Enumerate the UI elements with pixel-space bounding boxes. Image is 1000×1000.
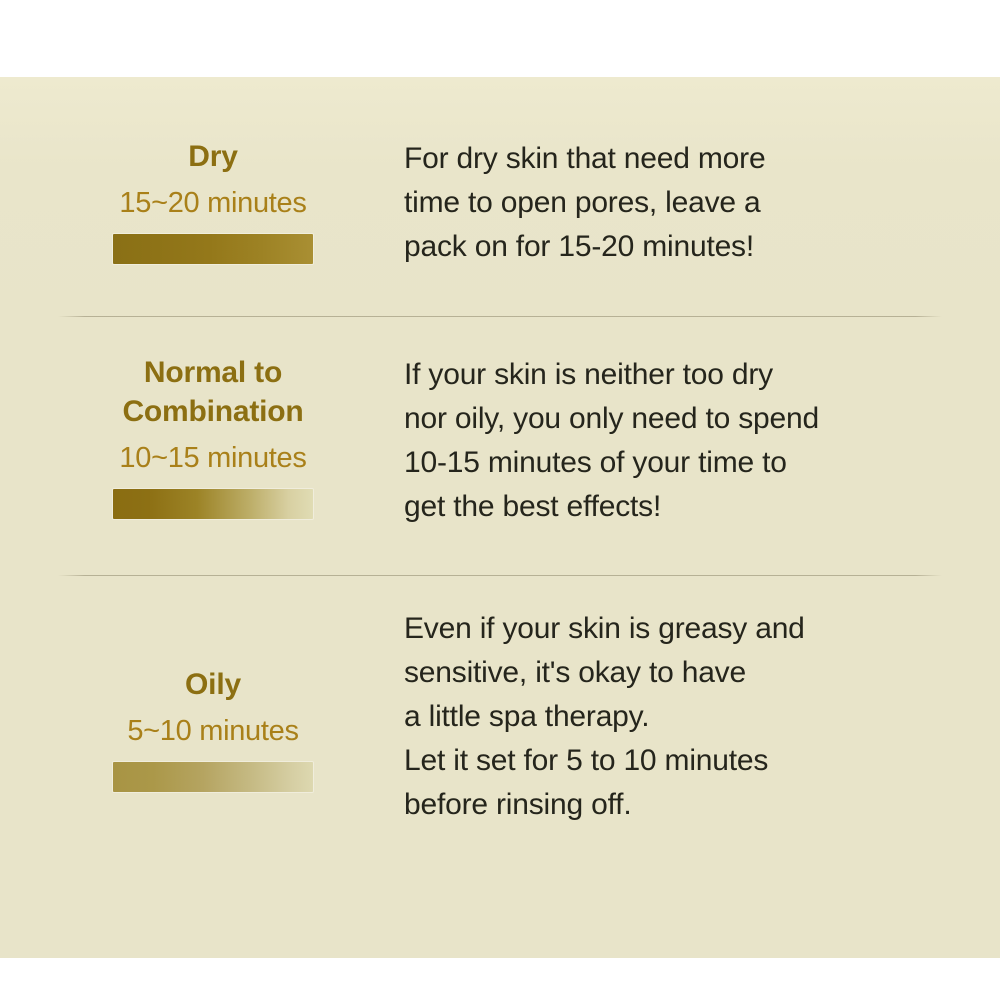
description-text-oily: Even if your skin is greasy and sensitiv… [404, 607, 930, 827]
gradient-bar-dry [113, 234, 313, 264]
skin-type-duration-dry: 15~20 minutes [113, 185, 313, 221]
description-text-dry: For dry skin that need more time to open… [404, 137, 930, 269]
skin-type-title-dry: Dry [113, 137, 313, 176]
section-divider-1 [58, 316, 942, 317]
label-column-dry: Dry 15~20 minutes [0, 137, 404, 264]
description-column-normal: If your skin is neither too dry nor oily… [404, 353, 1000, 529]
label-inner-oily: Oily 5~10 minutes [113, 665, 313, 792]
section-divider-2 [58, 575, 942, 576]
info-panel: Dry 15~20 minutes For dry skin that need… [0, 77, 1000, 958]
label-column-oily: Oily 5~10 minutes [0, 607, 404, 792]
gradient-bar-normal [113, 489, 313, 519]
label-inner-dry: Dry 15~20 minutes [113, 137, 313, 264]
skin-type-duration-oily: 5~10 minutes [113, 713, 313, 749]
label-inner-normal: Normal to Combination 10~15 minutes [113, 353, 313, 519]
description-text-normal: If your skin is neither too dry nor oily… [404, 353, 930, 529]
description-column-oily: Even if your skin is greasy and sensitiv… [404, 607, 1000, 827]
skin-type-title-normal: Normal to Combination [113, 353, 313, 431]
skin-type-row-normal: Normal to Combination 10~15 minutes If y… [0, 353, 1000, 558]
skin-type-row-dry: Dry 15~20 minutes For dry skin that need… [0, 137, 1000, 297]
gradient-bar-oily [113, 762, 313, 792]
description-column-dry: For dry skin that need more time to open… [404, 137, 1000, 269]
skin-type-duration-normal: 10~15 minutes [113, 440, 313, 476]
page-root: Dry 15~20 minutes For dry skin that need… [0, 0, 1000, 1000]
label-column-normal: Normal to Combination 10~15 minutes [0, 353, 404, 519]
skin-type-title-oily: Oily [113, 665, 313, 704]
skin-type-row-oily: Oily 5~10 minutes Even if your skin is g… [0, 607, 1000, 867]
